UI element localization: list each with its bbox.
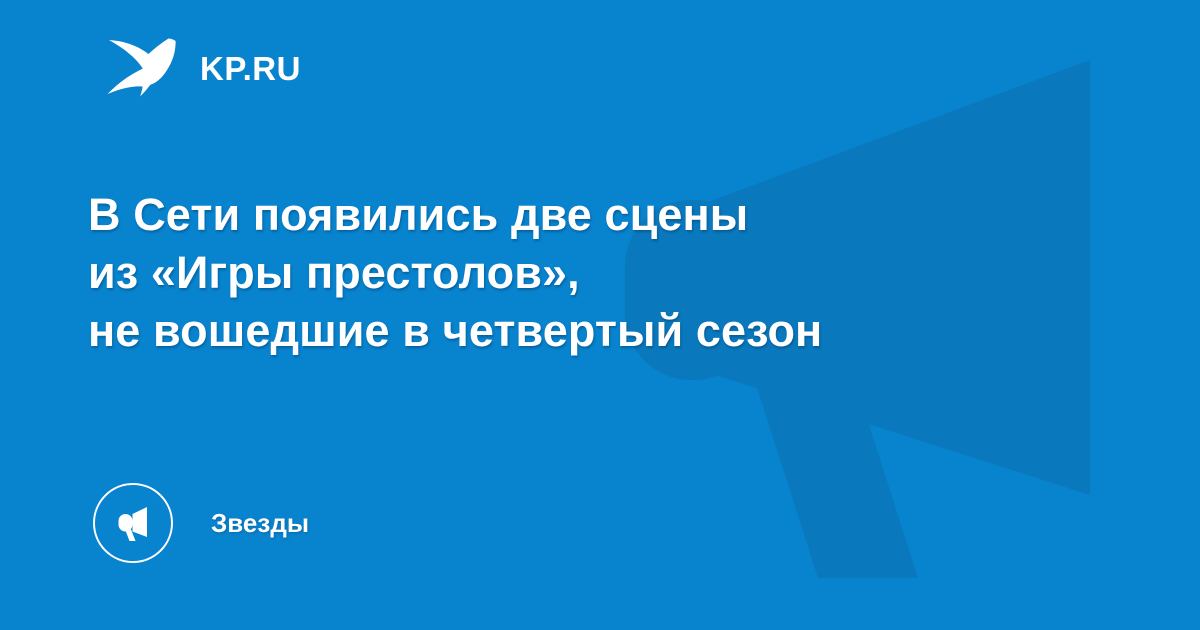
category-label: Звезды	[211, 510, 309, 536]
page-title: В Сети появились две сцены из «Игры прес…	[88, 186, 1118, 360]
swallow-bird-icon	[104, 36, 176, 100]
megaphone-icon	[113, 503, 153, 543]
article-share-card: KP.RU В Сети появились две сцены из «Игр…	[0, 0, 1200, 630]
headline-line-3: не вошедшие в четвертый сезон	[88, 302, 1118, 360]
headline-line-1: В Сети появились две сцены	[88, 186, 1118, 244]
brand-logo[interactable]: KP.RU	[104, 36, 301, 100]
category-icon-circle	[93, 483, 173, 563]
brand-name: KP.RU	[200, 52, 301, 85]
category-badge[interactable]: Звезды	[93, 483, 309, 563]
headline-line-2: из «Игры престолов»,	[88, 244, 1118, 302]
